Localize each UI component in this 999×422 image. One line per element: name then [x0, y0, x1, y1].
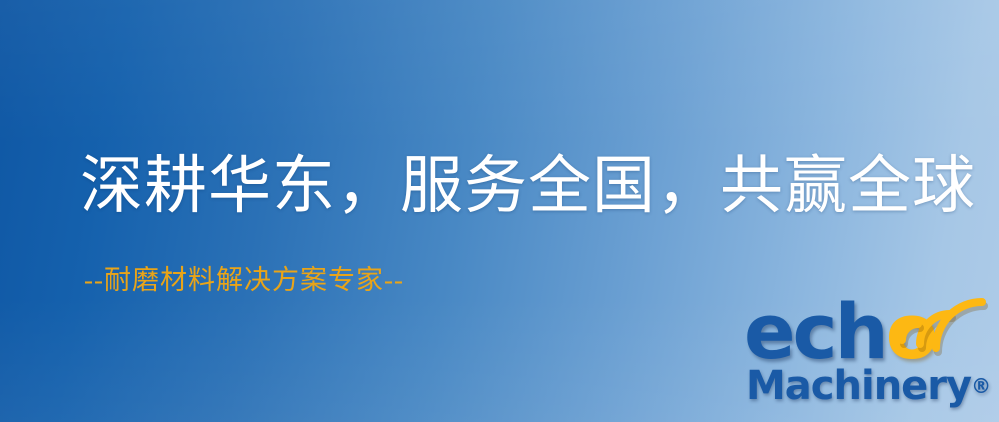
- logo-wordmark: echo: [742, 300, 992, 372]
- banner-headline: 深耕华东，服务全国，共赢全球: [80, 152, 976, 220]
- promotional-banner: 深耕华东，服务全国，共赢全球 --耐磨材料解决方案专家-- echo Machi…: [0, 0, 999, 422]
- registered-trademark-icon: ®: [971, 374, 991, 398]
- logo-machinery-text: Machinery: [746, 363, 971, 409]
- banner-subtitle: --耐磨材料解决方案专家--: [84, 264, 404, 296]
- logo-brand-line: Machinery®: [746, 366, 991, 406]
- echo-machinery-logo: echo Machinery®: [742, 300, 992, 418]
- signal-waves-icon: [914, 294, 992, 360]
